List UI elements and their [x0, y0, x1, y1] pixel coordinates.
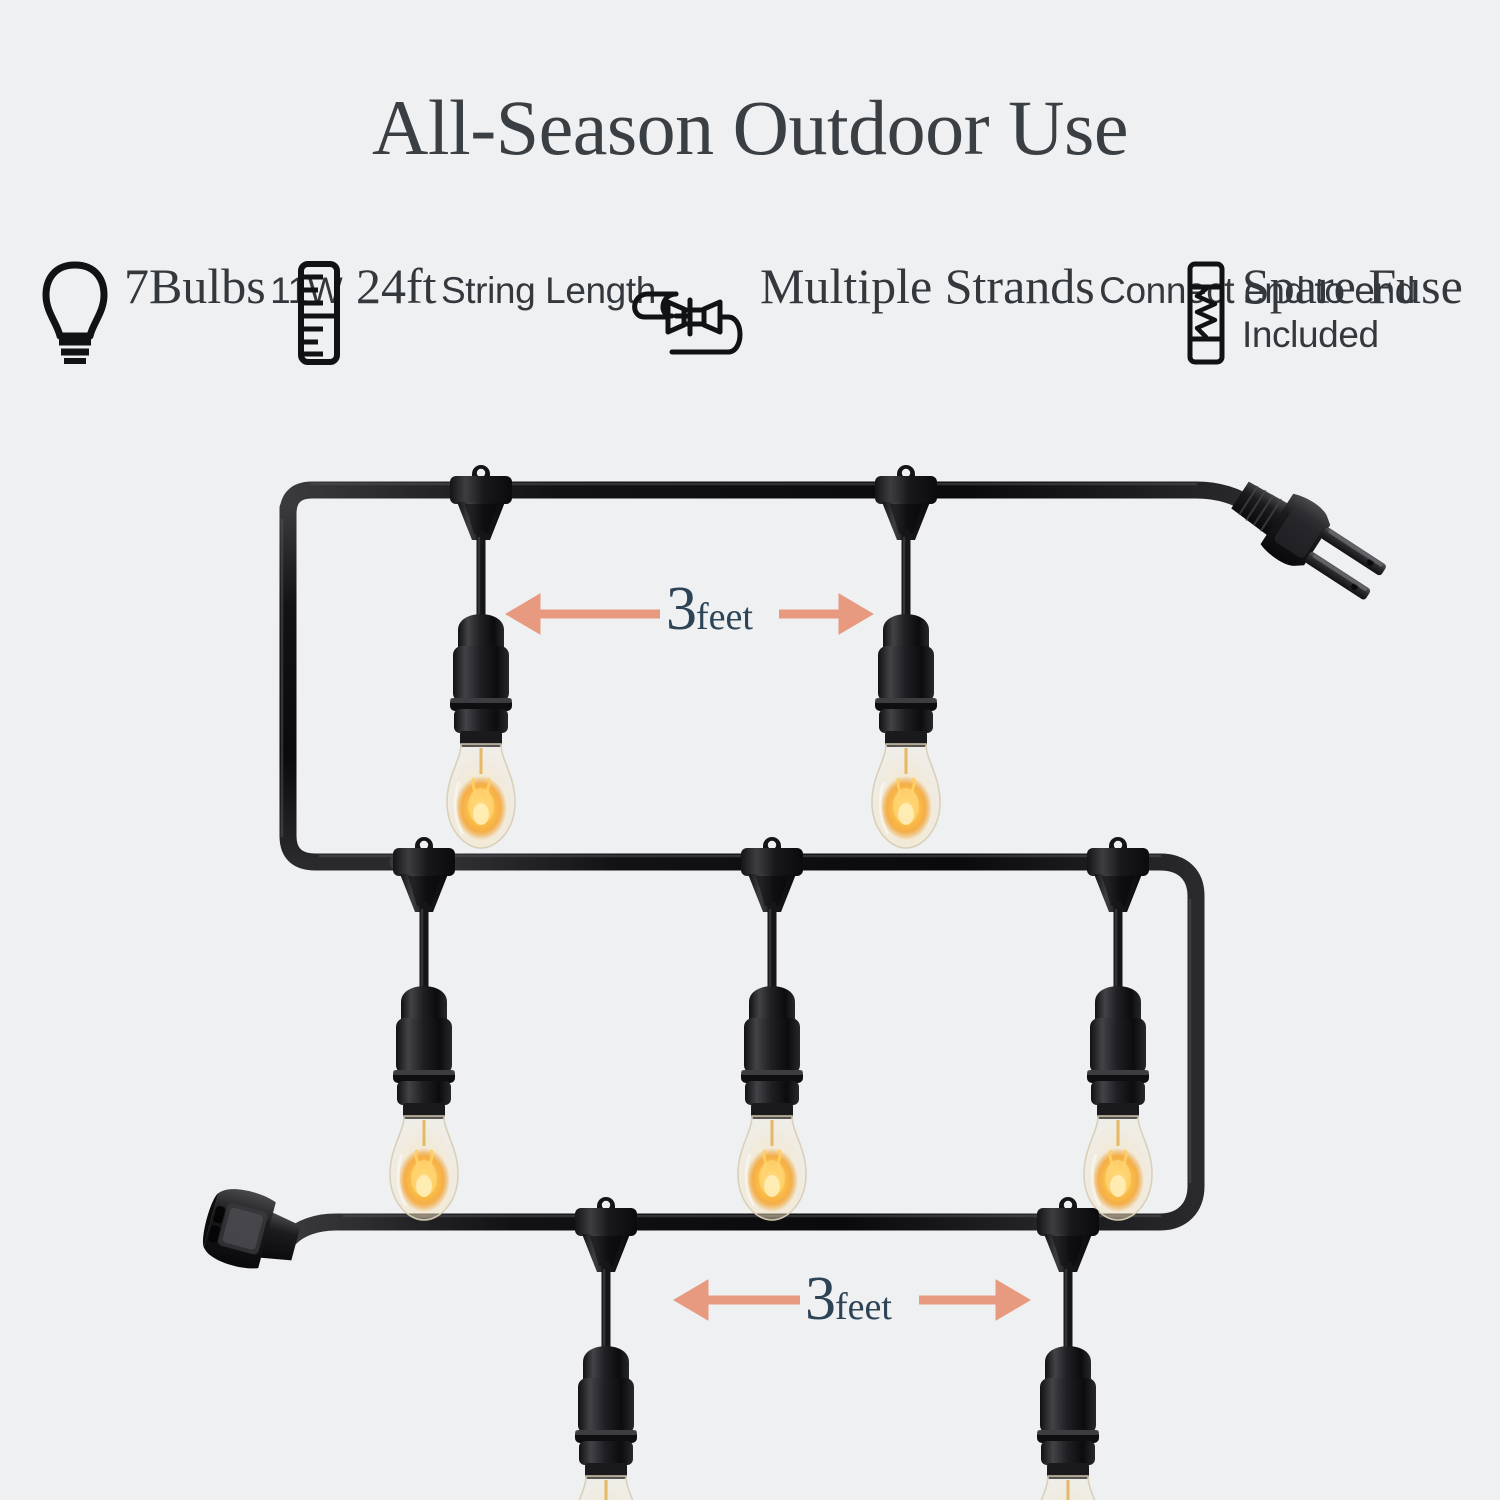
measure-label-bottom: 3feet [805, 1268, 892, 1330]
lamp-mid-2 [738, 906, 806, 1220]
measure-bottom-unit: feet [835, 1286, 892, 1328]
hanger-mid-1 [393, 837, 455, 912]
hanger-mid-3 [1087, 837, 1149, 912]
lamp-group-top [447, 465, 940, 848]
lamp-mid-3 [1084, 906, 1152, 1220]
lamp-top-1 [447, 534, 515, 848]
lamp-top-2 [872, 534, 940, 848]
hanger-top-1 [450, 465, 512, 540]
hanger-mid-2 [741, 837, 803, 912]
hanger-bot-2 [1037, 1197, 1099, 1272]
string-light-diagram [0, 0, 1500, 1500]
measure-label-top: 3feet [666, 578, 753, 640]
measure-top-unit: feet [696, 596, 753, 638]
measure-bottom-number: 3 [805, 1265, 835, 1333]
hanger-bot-1 [575, 1197, 637, 1272]
two-prong-female-socket [197, 1182, 306, 1280]
lamp-group-middle [390, 837, 1152, 1220]
lamp-bot-2 [1034, 1266, 1102, 1500]
lamp-group-bottom [572, 1197, 1102, 1500]
hanger-top-2 [875, 465, 937, 540]
measure-top-number: 3 [666, 575, 696, 643]
two-prong-male-plug [1222, 467, 1395, 612]
lamp-mid-1 [390, 906, 458, 1220]
lamp-bot-1 [572, 1266, 640, 1500]
